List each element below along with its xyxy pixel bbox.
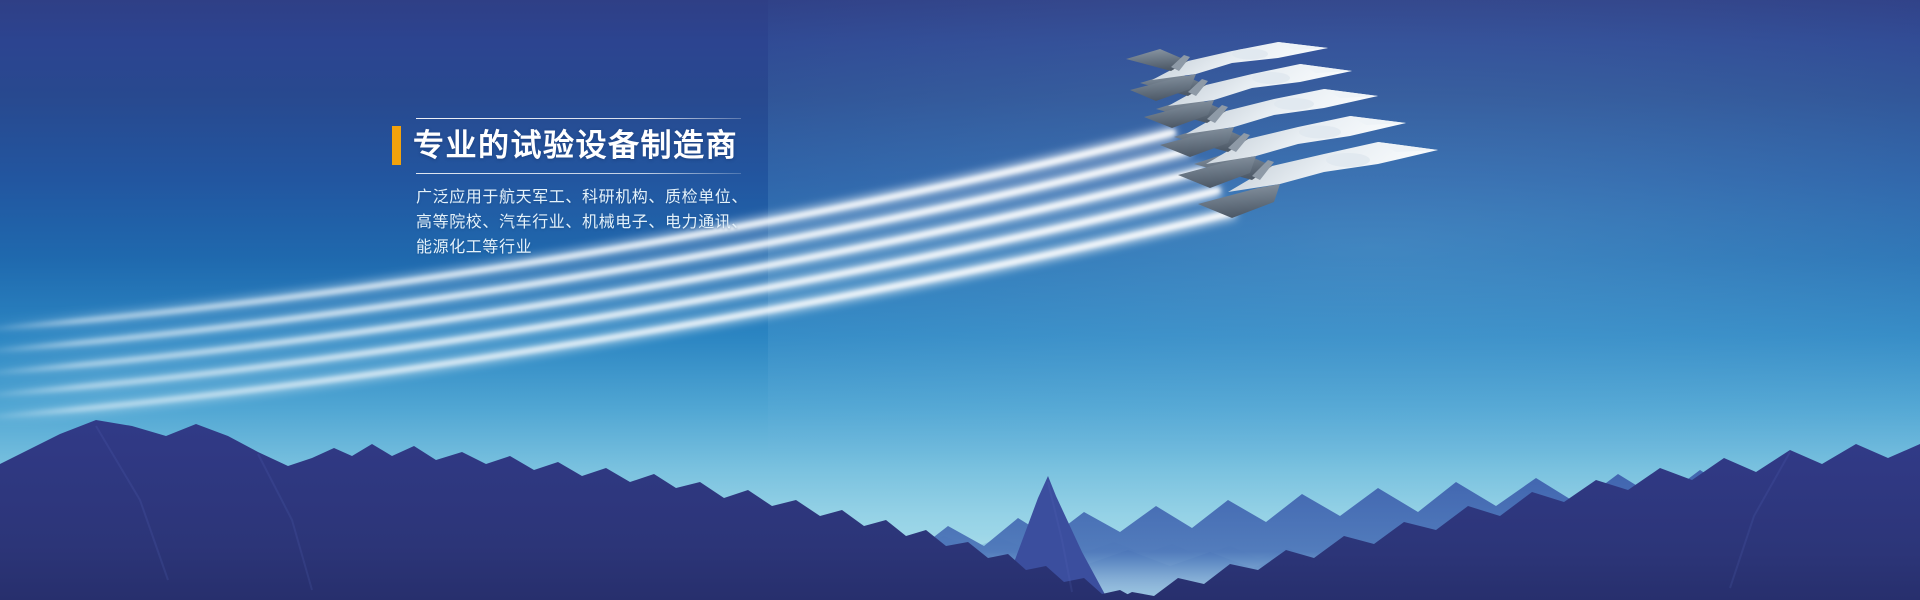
subtitle-line-3: 能源化工等行业 (416, 235, 752, 260)
subtitle-block: 广泛应用于航天军工、科研机构、质检单位、 高等院校、汽车行业、机械电子、电力通讯… (416, 185, 752, 260)
subtitle-line-2: 高等院校、汽车行业、机械电子、电力通讯、 (416, 210, 752, 235)
headline-rule-top (416, 118, 741, 119)
headline-rule-bottom (416, 173, 741, 174)
hero-banner: 专业的试验设备制造商 广泛应用于航天军工、科研机构、质检单位、 高等院校、汽车行… (0, 0, 1920, 600)
orange-accent-bar (392, 126, 401, 165)
subtitle-line-1: 广泛应用于航天军工、科研机构、质检单位、 (416, 185, 752, 210)
fighter-jet-formation (1120, 40, 1500, 270)
mountain-range-silhouette (0, 340, 1920, 600)
headline-row: 专业的试验设备制造商 (392, 126, 752, 165)
hero-copy-block: 专业的试验设备制造商 广泛应用于航天军工、科研机构、质检单位、 高等院校、汽车行… (392, 118, 752, 260)
page-title: 专业的试验设备制造商 (413, 126, 738, 165)
